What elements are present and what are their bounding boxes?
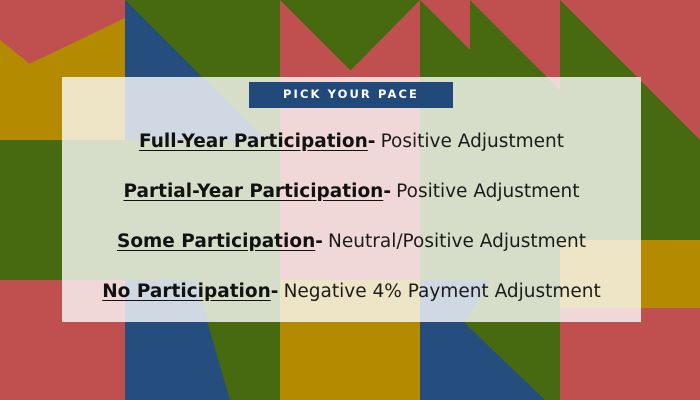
list-item-separator: - — [383, 181, 391, 202]
list-item-separator: - — [315, 231, 323, 252]
list-item-term: No Participation — [102, 281, 271, 302]
infographic-canvas: PICK YOUR PACE Full-Year Participation- … — [0, 0, 700, 400]
participation-list: Full-Year Participation- Positive Adjust… — [62, 117, 641, 317]
list-item-description: Positive Adjustment — [396, 181, 579, 202]
list-item-term: Partial-Year Participation — [123, 181, 383, 202]
list-item-description: Neutral/Positive Adjustment — [328, 231, 586, 252]
list-item-separator: - — [368, 131, 376, 152]
list-item-term: Some Participation — [117, 231, 315, 252]
list-item-separator: - — [271, 281, 279, 302]
list-item-description: Negative 4% Payment Adjustment — [284, 281, 601, 302]
list-item: No Participation- Negative 4% Payment Ad… — [102, 282, 601, 302]
list-item-description: Positive Adjustment — [381, 131, 564, 152]
list-item-term: Full-Year Participation — [139, 131, 368, 152]
banner-badge: PICK YOUR PACE — [249, 82, 453, 108]
list-item: Some Participation- Neutral/Positive Adj… — [117, 232, 586, 252]
list-item: Full-Year Participation- Positive Adjust… — [139, 132, 564, 152]
banner-label: PICK YOUR PACE — [283, 89, 419, 101]
content-panel: PICK YOUR PACE Full-Year Participation- … — [62, 77, 641, 322]
list-item: Partial-Year Participation- Positive Adj… — [123, 182, 579, 202]
